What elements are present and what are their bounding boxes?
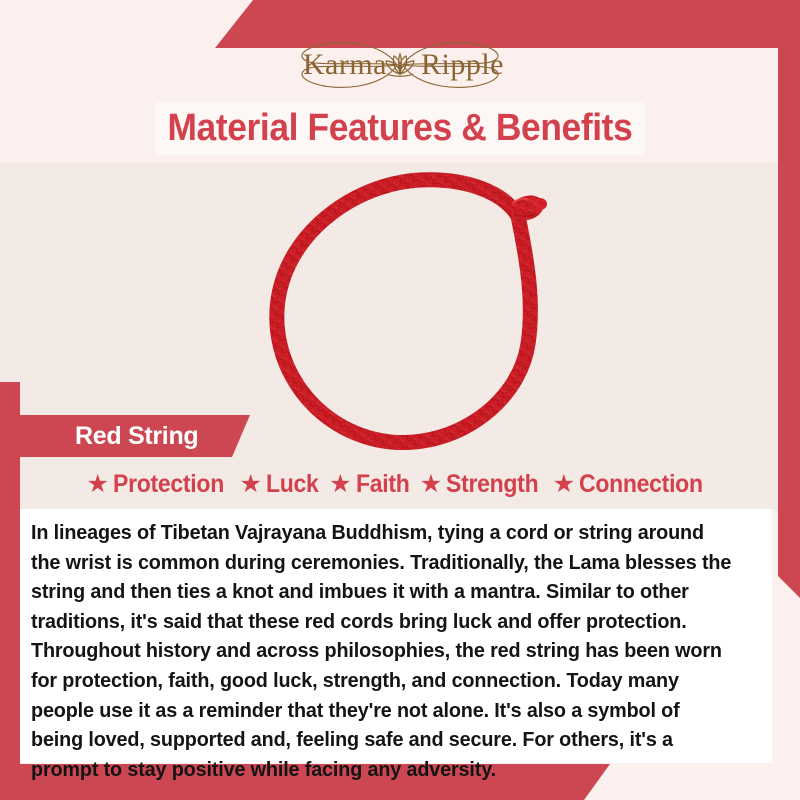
feature-label: Faith (356, 470, 410, 499)
star-icon: ★ (420, 472, 442, 497)
infographic-page: Karma Ripple Material Features & Benefit… (0, 0, 800, 800)
product-image (250, 168, 580, 458)
headline-band: Material Features & Benefits (155, 102, 645, 155)
feature-label: Connection (579, 470, 703, 499)
feature-item-strength: ★ Strength (420, 470, 547, 499)
bracelet-cord-shading (277, 180, 531, 443)
red-string-bracelet-illustration (250, 168, 580, 458)
brand-logo: Karma Ripple (0, 34, 800, 96)
brand-name-left: Karma (303, 48, 387, 81)
star-icon: ★ (553, 472, 575, 497)
brand-logo-svg: Karma Ripple (235, 34, 565, 96)
description-card: In lineages of Tibetan Vajrayana Buddhis… (20, 509, 772, 763)
feature-item-luck: ★ Luck (240, 470, 324, 499)
star-icon: ★ (87, 472, 109, 497)
brand-name-right: Ripple (421, 48, 504, 81)
decorative-left-red-bar (0, 382, 20, 800)
feature-label: Protection (113, 470, 224, 499)
star-icon: ★ (329, 472, 351, 497)
material-label-text: Red String (75, 422, 198, 451)
description-text: In lineages of Tibetan Vajrayana Buddhis… (31, 518, 733, 784)
material-label-banner: Red String (20, 415, 250, 457)
feature-item-faith: ★ Faith (329, 470, 414, 499)
features-list: ★ Protection ★ Luck ★ Faith ★ Strength ★… (20, 464, 780, 504)
feature-label: Luck (266, 470, 319, 499)
feature-label: Strength (446, 470, 538, 499)
feature-item-connection: ★ Connection (553, 470, 714, 499)
star-icon: ★ (240, 472, 262, 497)
feature-item-protection: ★ Protection (87, 470, 234, 499)
page-title: Material Features & Benefits (168, 107, 633, 150)
